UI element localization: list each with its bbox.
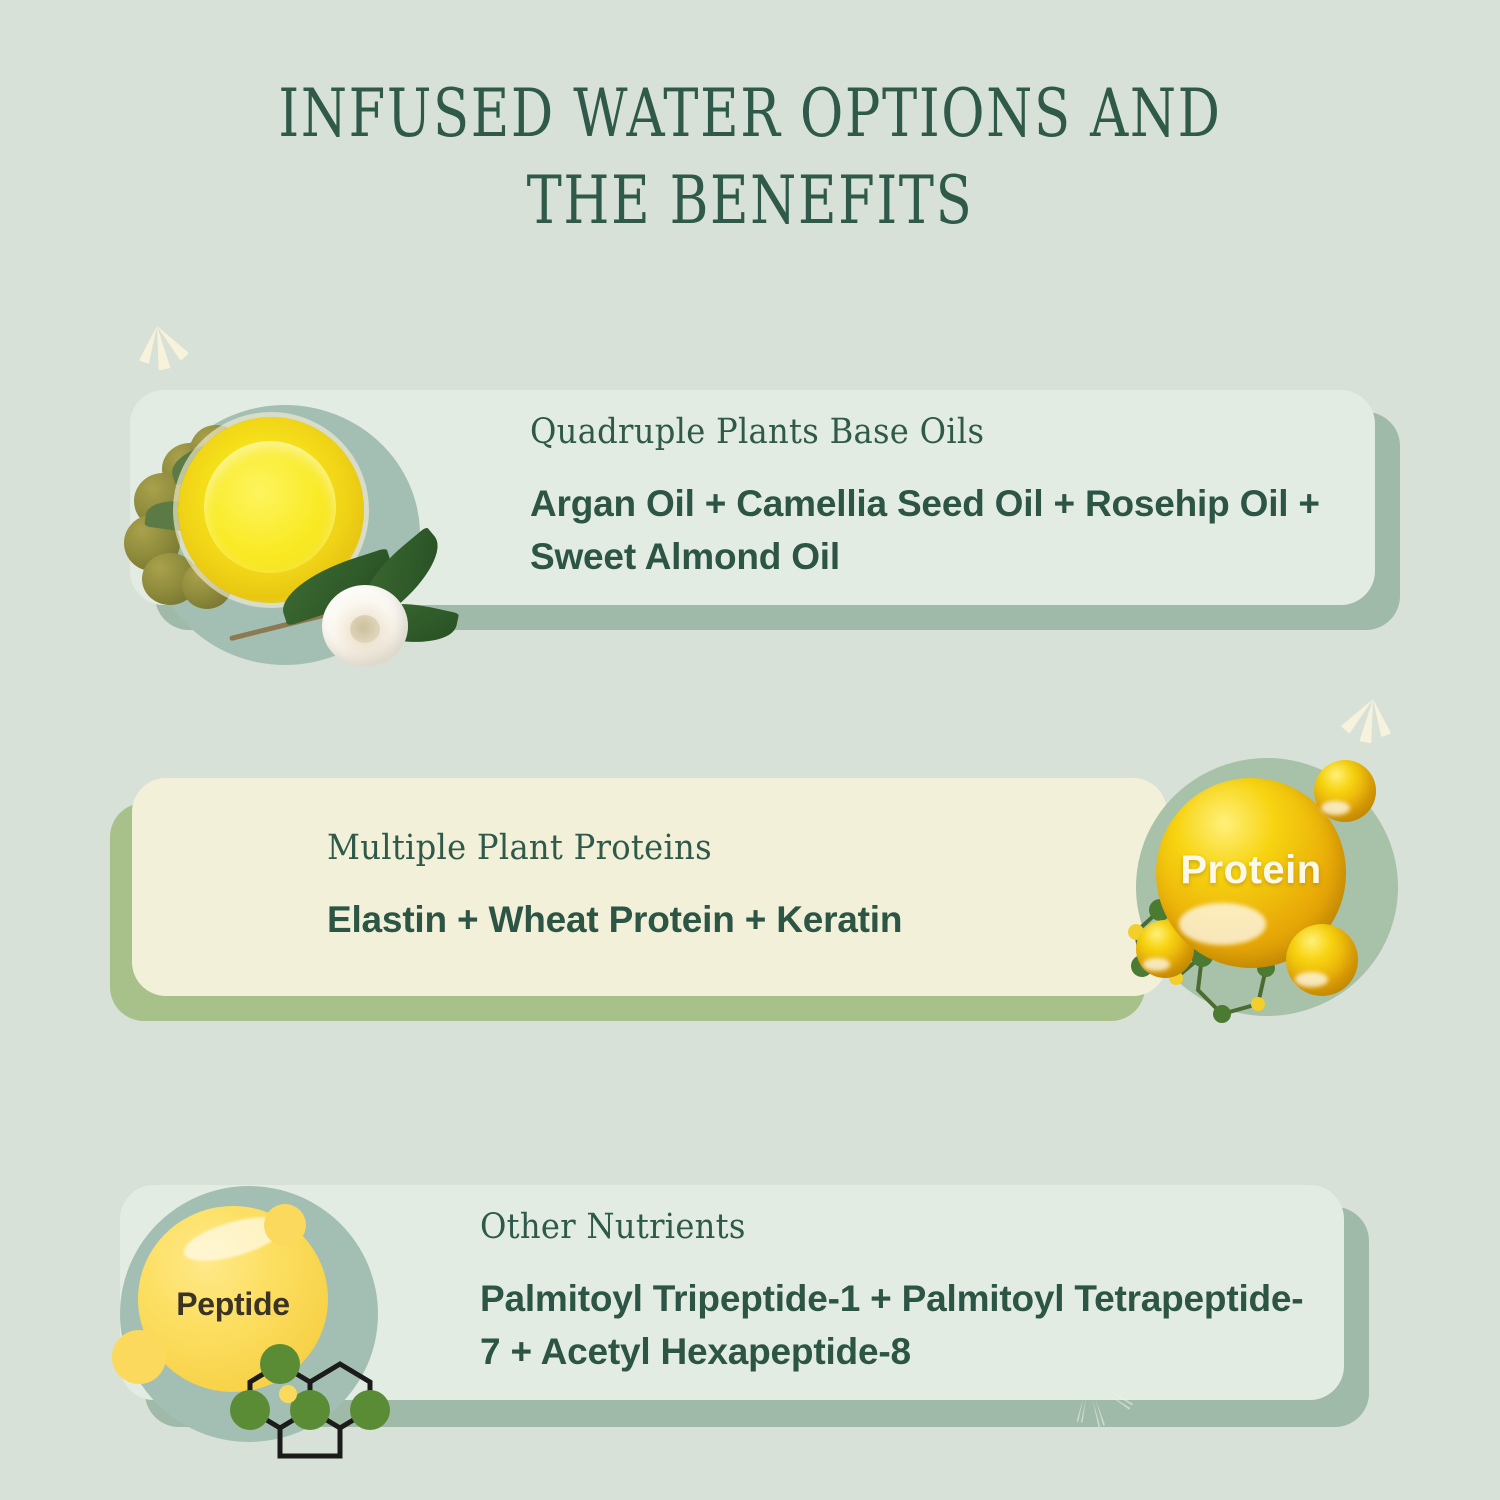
card-text-block: Quadruple Plants Base Oils Argan Oil + C… xyxy=(530,390,1345,605)
card-text-block: Multiple Plant Proteins Elastin + Wheat … xyxy=(327,778,1127,996)
infographic-canvas: INFUSED WATER OPTIONS AND THE BENEFITS Q… xyxy=(0,0,1500,1500)
page-title-line-2: THE BENEFITS xyxy=(150,157,1350,244)
card-body-text: Palmitoyl Tripeptide-1 + Palmitoyl Tetra… xyxy=(480,1273,1314,1378)
card-body-text: Elastin + Wheat Protein + Keratin xyxy=(327,894,1127,947)
sparkle-icon xyxy=(1335,695,1415,755)
peptide-droplet-image: Peptide xyxy=(112,1168,432,1468)
card-surface: Multiple Plant Proteins Elastin + Wheat … xyxy=(132,778,1167,996)
protein-droplet-image: Protein xyxy=(1118,740,1438,1040)
card-heading: Multiple Plant Proteins xyxy=(327,828,1063,868)
card-text-block: Other Nutrients Palmitoyl Tripeptide-1 +… xyxy=(480,1185,1314,1400)
bubble-icon xyxy=(264,1204,306,1246)
sparkle-icon xyxy=(1035,1378,1145,1448)
droplet-icon xyxy=(1314,760,1376,822)
card-heading: Quadruple Plants Base Oils xyxy=(530,412,1280,452)
card-plant-proteins: Multiple Plant Proteins Elastin + Wheat … xyxy=(110,778,1200,1028)
card-heading: Other Nutrients xyxy=(480,1207,1247,1247)
page-title-line-1: INFUSED WATER OPTIONS AND xyxy=(150,70,1350,157)
droplet-icon xyxy=(1286,924,1358,996)
sparkle-icon xyxy=(115,322,195,382)
molecule-structure-icon xyxy=(240,1318,430,1468)
bubble-icon xyxy=(112,1330,166,1384)
protein-label: Protein xyxy=(1156,848,1346,893)
card-body-text: Argan Oil + Camellia Seed Oil + Rosehip … xyxy=(530,478,1345,583)
olive-oil-bowl-image xyxy=(110,355,450,655)
page-title: INFUSED WATER OPTIONS AND THE BENEFITS xyxy=(150,70,1350,244)
camellia-flower-icon xyxy=(322,585,408,667)
